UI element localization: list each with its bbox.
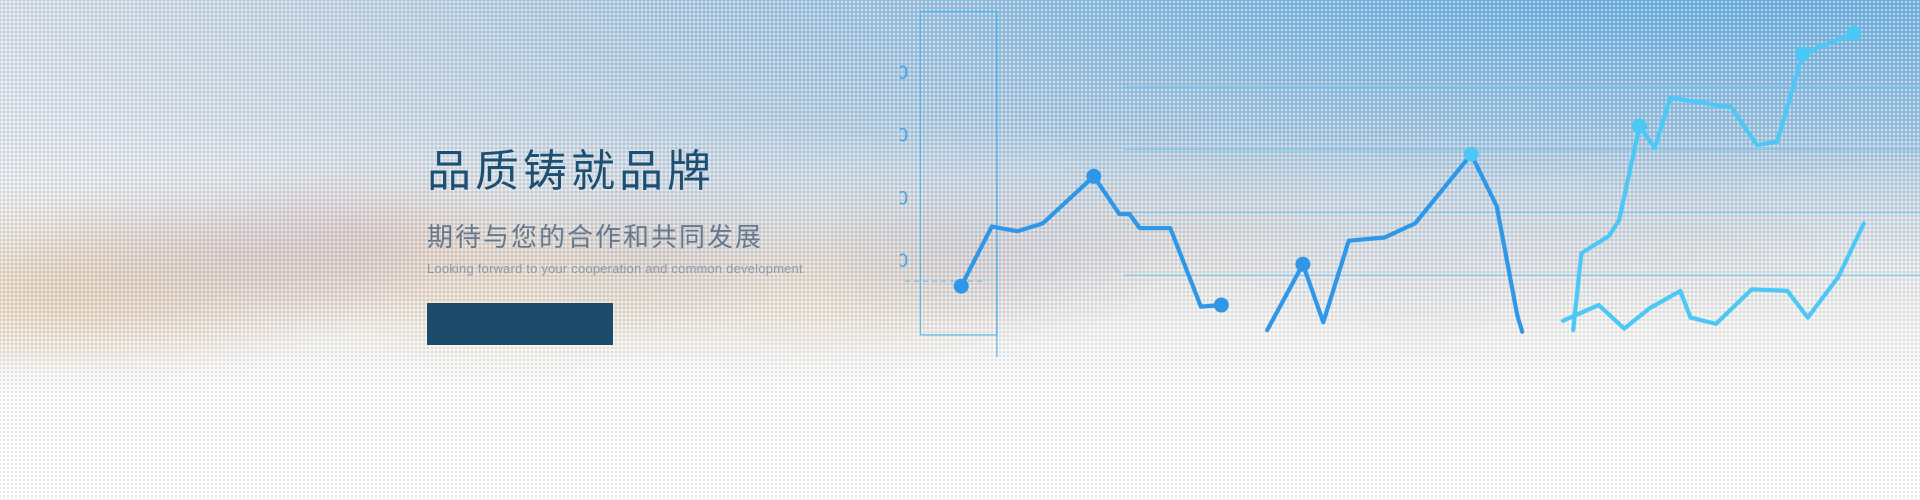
svg-text:40000: 40000 bbox=[900, 251, 908, 272]
svg-text:60000: 60000 bbox=[900, 188, 908, 209]
banner-headline: 品质铸就品牌 bbox=[427, 150, 847, 194]
chart-gridlines bbox=[905, 87, 1920, 281]
svg-text:100000: 100000 bbox=[900, 63, 908, 84]
chart-data-points bbox=[954, 26, 1861, 313]
line-chart: 100000800006000040000 bbox=[900, 0, 1920, 500]
chart-axis-box bbox=[920, 11, 997, 356]
banner-copy: 品质铸就品牌 期待与您的合作和共同发展 Looking forward to y… bbox=[427, 150, 847, 345]
banner-subheadline: 期待与您的合作和共同发展 bbox=[427, 224, 847, 250]
chart-y-axis-ticks: 100000800006000040000 bbox=[900, 63, 908, 272]
promotional-banner: 品质铸就品牌 期待与您的合作和共同发展 Looking forward to y… bbox=[0, 0, 1920, 500]
banner-subheadline-english: Looking forward to your cooperation and … bbox=[427, 261, 847, 277]
line-chart-canvas: 100000800006000040000 bbox=[900, 0, 1920, 500]
banner-cta-button[interactable] bbox=[427, 303, 613, 345]
svg-text:80000: 80000 bbox=[900, 126, 908, 147]
